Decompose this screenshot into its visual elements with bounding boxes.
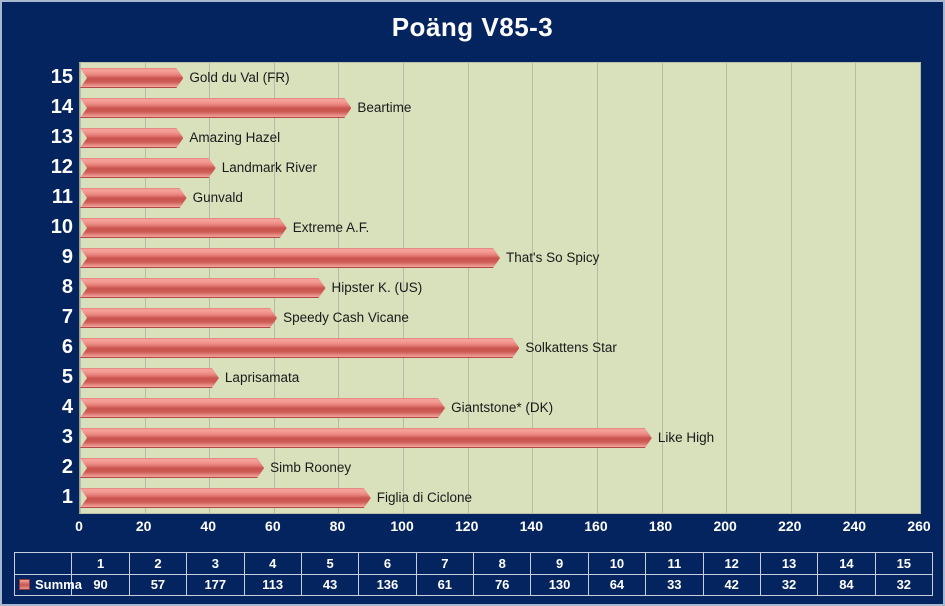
bar-row[interactable]: Solkattens Star: [80, 333, 920, 363]
table-value-cell: 32: [760, 574, 817, 596]
bar[interactable]: [80, 398, 445, 418]
table-header-cell: 10: [588, 553, 645, 575]
bar-row[interactable]: Landmark River: [80, 153, 920, 183]
bar-row[interactable]: Gunvald: [80, 183, 920, 213]
bar-value-label: Beartime: [357, 99, 411, 117]
table-row: Summa 9057177113431366176130643342328432: [15, 574, 933, 596]
x-axis-tick-label: 260: [907, 518, 930, 534]
bar-value-label: Figlia di Ciclone: [377, 489, 472, 507]
bar-row[interactable]: Simb Rooney: [80, 453, 920, 483]
table-header-cell: 4: [244, 553, 301, 575]
y-axis-tick-label: 10: [2, 212, 73, 242]
y-axis-tick-label: 9: [2, 242, 73, 272]
table-header-row: 123456789101112131415: [15, 553, 933, 575]
y-axis-tick-label: 3: [2, 422, 73, 452]
bar[interactable]: [80, 248, 500, 268]
table-value-cell: 64: [588, 574, 645, 596]
bar-value-label: That's So Spicy: [506, 249, 599, 267]
bar-value-label: Laprisamata: [225, 369, 299, 387]
table-value-cell: 177: [187, 574, 244, 596]
table-value-cell: 136: [359, 574, 416, 596]
table-value-cell: 33: [646, 574, 703, 596]
plot-area: Figlia di CicloneSimb RooneyLike HighGia…: [79, 62, 921, 514]
bar[interactable]: [80, 218, 287, 238]
bar[interactable]: [80, 158, 216, 178]
bar-row[interactable]: Hipster K. (US): [80, 273, 920, 303]
bar[interactable]: [80, 128, 183, 148]
bar[interactable]: [80, 308, 277, 328]
bar-value-label: Gold du Val (FR): [189, 69, 289, 87]
bar-value-label: Landmark River: [222, 159, 317, 177]
x-axis-tick-label: 60: [265, 518, 281, 534]
table-header-cell: 5: [301, 553, 358, 575]
y-axis: 123456789101112131415: [2, 62, 73, 514]
y-axis-tick-label: 5: [2, 362, 73, 392]
legend-label-text: Summa: [35, 577, 82, 592]
bar-row[interactable]: Beartime: [80, 93, 920, 123]
y-axis-tick-label: 14: [2, 92, 73, 122]
bar[interactable]: [80, 368, 219, 388]
table-value-cell: 57: [129, 574, 186, 596]
bar-row[interactable]: Extreme A.F.: [80, 213, 920, 243]
x-axis-tick-label: 40: [200, 518, 216, 534]
bar-row[interactable]: Amazing Hazel: [80, 123, 920, 153]
x-axis-tick-label: 140: [520, 518, 543, 534]
y-axis-tick-label: 11: [2, 182, 73, 212]
bar[interactable]: [80, 488, 371, 508]
table-header-cell: 1: [72, 553, 129, 575]
bar[interactable]: [80, 458, 264, 478]
y-axis-tick-label: 7: [2, 302, 73, 332]
table-header-cell: 2: [129, 553, 186, 575]
y-axis-tick-label: 4: [2, 392, 73, 422]
x-axis-tick-label: 80: [330, 518, 346, 534]
y-axis-tick-label: 13: [2, 122, 73, 152]
bar-row[interactable]: Speedy Cash Vicane: [80, 303, 920, 333]
y-axis-tick-label: 8: [2, 272, 73, 302]
chart-container: Poäng V85-3 123456789101112131415 Figlia…: [0, 0, 945, 606]
y-axis-tick-label: 12: [2, 152, 73, 182]
bar-value-label: Giantstone* (DK): [451, 399, 553, 417]
table-header-cell: 13: [760, 553, 817, 575]
table-value-cell: 76: [474, 574, 531, 596]
bar-value-label: Amazing Hazel: [189, 129, 280, 147]
y-axis-tick-label: 1: [2, 482, 73, 512]
x-axis-tick-label: 120: [455, 518, 478, 534]
bar-value-label: Hipster K. (US): [332, 279, 423, 297]
table-corner-cell: [15, 553, 72, 575]
table-value-cell: 113: [244, 574, 301, 596]
x-axis: 020406080100120140160180200220240260: [79, 518, 921, 540]
y-axis-tick-label: 2: [2, 452, 73, 482]
x-axis-tick-label: 160: [584, 518, 607, 534]
bar-value-label: Like High: [658, 429, 714, 447]
table-header-cell: 6: [359, 553, 416, 575]
table-value-cell: 61: [416, 574, 473, 596]
x-axis-tick-label: 180: [649, 518, 672, 534]
bar-value-label: Gunvald: [193, 189, 243, 207]
bar-series-summa: Figlia di CicloneSimb RooneyLike HighGia…: [80, 63, 920, 513]
chart-title: Poäng V85-3: [2, 12, 943, 43]
legend-series-label: Summa: [15, 574, 72, 596]
table-header-cell: 8: [474, 553, 531, 575]
bar-row[interactable]: Giantstone* (DK): [80, 393, 920, 423]
table-header-cell: 9: [531, 553, 588, 575]
table-header-cell: 7: [416, 553, 473, 575]
bar-value-label: Speedy Cash Vicane: [283, 309, 409, 327]
x-axis-tick-label: 200: [713, 518, 736, 534]
table-value-cell: 42: [703, 574, 760, 596]
table-header-cell: 3: [187, 553, 244, 575]
x-axis-tick-label: 240: [843, 518, 866, 534]
bar[interactable]: [80, 338, 519, 358]
table-header-cell: 15: [875, 553, 932, 575]
bar[interactable]: [80, 428, 652, 448]
data-table: 123456789101112131415 Summa 905717711343…: [14, 552, 933, 596]
gridline: [920, 63, 921, 513]
bar-value-label: Simb Rooney: [270, 459, 351, 477]
x-axis-tick-label: 20: [136, 518, 152, 534]
y-axis-tick-label: 15: [2, 62, 73, 92]
bar[interactable]: [80, 98, 351, 118]
table-header-cell: 14: [818, 553, 875, 575]
bar-value-label: Extreme A.F.: [293, 219, 370, 237]
bar-row[interactable]: Laprisamata: [80, 363, 920, 393]
legend-swatch-icon: [19, 579, 30, 590]
bar[interactable]: [80, 278, 326, 298]
table-value-cell: 32: [875, 574, 932, 596]
table-header-cell: 12: [703, 553, 760, 575]
y-axis-tick-label: 6: [2, 332, 73, 362]
table-value-cell: 130: [531, 574, 588, 596]
bar-row[interactable]: That's So Spicy: [80, 243, 920, 273]
bar-value-label: Solkattens Star: [525, 339, 617, 357]
x-axis-tick-label: 0: [75, 518, 83, 534]
bar-row[interactable]: Gold du Val (FR): [80, 63, 920, 93]
bar-row[interactable]: Like High: [80, 423, 920, 453]
x-axis-tick-label: 220: [778, 518, 801, 534]
bar-row[interactable]: Figlia di Ciclone: [80, 483, 920, 513]
x-axis-tick-label: 100: [390, 518, 413, 534]
bar[interactable]: [80, 68, 183, 88]
table-header-cell: 11: [646, 553, 703, 575]
table-value-cell: 43: [301, 574, 358, 596]
bar[interactable]: [80, 188, 187, 208]
table-value-cell: 84: [818, 574, 875, 596]
